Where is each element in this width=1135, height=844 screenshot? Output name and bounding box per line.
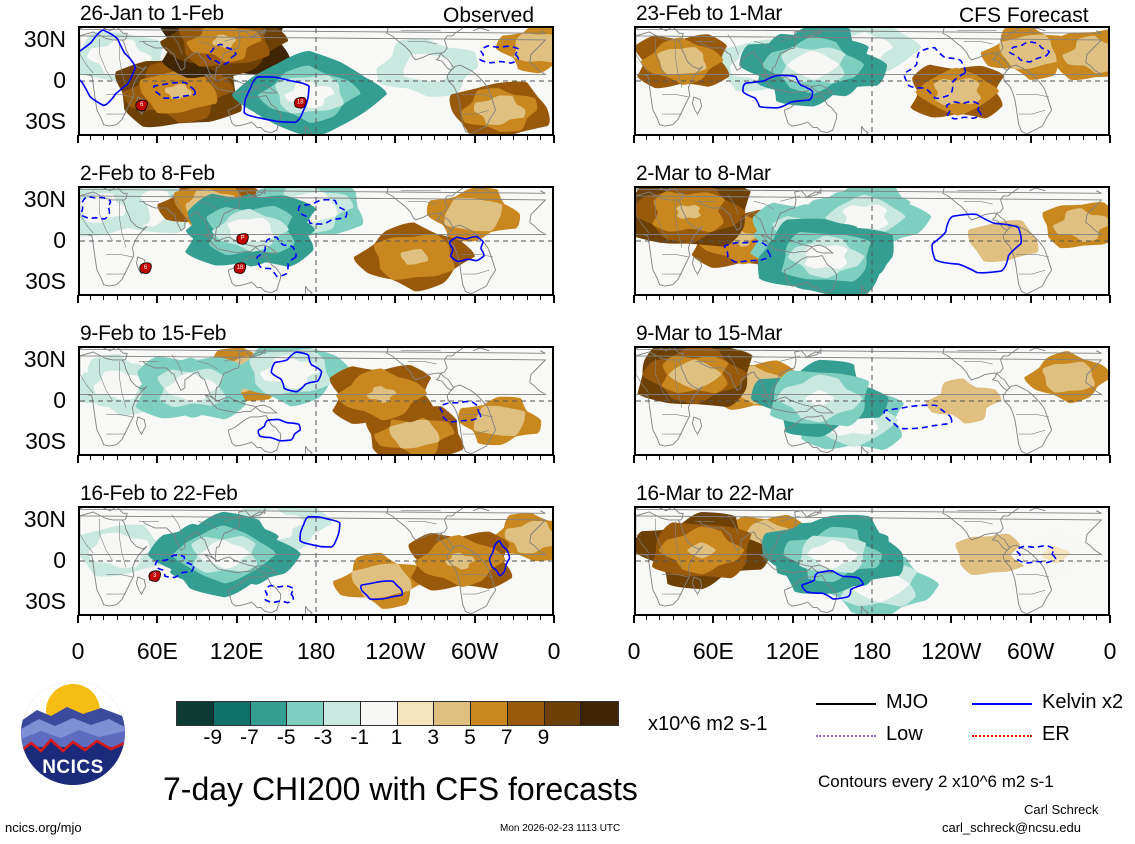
panel-title-5: 2-Mar to 8-Mar [636,162,771,186]
panel-title-2: 9-Feb to 15-Feb [80,322,226,346]
colorbar-segment-3 [287,702,324,725]
legend-line-mjo [816,703,876,705]
figure-main-title: 7-day CHI200 with CFS forecasts [163,771,638,808]
colorbar-segment-5 [361,702,398,725]
colorbar-segment-6 [398,702,435,725]
panel-title-3: 16-Feb to 22-Feb [80,482,237,506]
panel-title-4: 23-Feb to 1-Mar [636,2,782,26]
ylabel-1-1: 0 [0,227,66,254]
colorbar-segment-7 [434,702,471,725]
panel-title-1: 2-Feb to 8-Feb [80,162,215,186]
tickrow-5 [634,295,1110,305]
ylabel-3-0: 30N [0,506,66,533]
map-panel-3: 3 [78,506,554,616]
colorbar-segment-9 [508,702,545,725]
ncics-logo-graphic: NCICS [21,681,125,785]
author-name: Carl Schreck [1024,802,1098,817]
ylabel-3-1: 0 [0,547,66,574]
panel-title-0: 26-Jan to 1-Feb [80,2,224,26]
ylabel-1-0: 30N [0,186,66,213]
panel-title-6: 9-Mar to 15-Mar [636,322,782,346]
legend-label-er: ER [1042,723,1070,746]
tickrow-1 [78,295,554,305]
ylabel-1-2: 30S [0,268,66,295]
tickrow-2 [78,455,554,465]
ylabel-2-0: 30N [0,346,66,373]
colorbar-segment-8 [471,702,508,725]
legend-line-kelvin [972,703,1032,705]
svg-text:18: 18 [297,100,304,106]
colorbar-segment-1 [214,702,251,725]
map-panel-2 [78,346,554,456]
author-email[interactable]: carl_schreck@ncsu.edu [942,820,1081,835]
contour-interval-note: Contours every 2 x10^6 m2 s-1 [818,772,1054,792]
site-url[interactable]: ncics.org/mjo [5,820,82,835]
svg-text:P: P [241,236,245,242]
legend-label-kelvin: Kelvin x2 [1042,691,1123,714]
legend-line-er [972,735,1032,737]
legend-label-mjo: MJO [886,691,928,714]
svg-text:NCICS: NCICS [42,757,104,778]
map-panel-0: 618 [78,26,554,136]
legend-line-low [816,735,876,737]
xlabel-1-6: 0 [1060,638,1135,665]
ylabel-2-2: 30S [0,428,66,455]
column-header-observed: Observed [443,4,534,28]
legend-label-low: Low [886,723,923,746]
colorbar-segment-10 [545,702,582,725]
colorbar-segment-11 [581,702,618,725]
tickrow-7 [634,615,1110,625]
ylabel-3-2: 30S [0,588,66,615]
colorbar-tick-9: 9 [514,726,574,750]
map-panel-5 [634,186,1110,296]
map-panel-6 [634,346,1110,456]
map-panel-4 [634,26,1110,136]
ylabel-0-1: 0 [0,67,66,94]
ncics-logo: NCICS [21,681,125,785]
ylabel-2-1: 0 [0,387,66,414]
colorbar-segment-4 [324,702,361,725]
panel-title-7: 16-Mar to 22-Mar [636,482,793,506]
tickrow-4 [634,135,1110,145]
tickrow-0 [78,135,554,145]
column-header-forecast: CFS Forecast [959,4,1089,28]
colorbar-segment-0 [177,702,214,725]
ylabel-0-2: 30S [0,108,66,135]
map-panel-1: 6P18 [78,186,554,296]
ylabel-0-0: 30N [0,26,66,53]
svg-text:18: 18 [237,265,244,271]
colorbar [176,701,619,726]
tickrow-6 [634,455,1110,465]
colorbar-units-label: x10^6 m2 s-1 [648,713,767,736]
render-timestamp: Mon 2026-02-23 1113 UTC [500,823,620,834]
map-panel-7 [634,506,1110,616]
tickrow-3 [78,615,554,625]
colorbar-segment-2 [251,702,288,725]
